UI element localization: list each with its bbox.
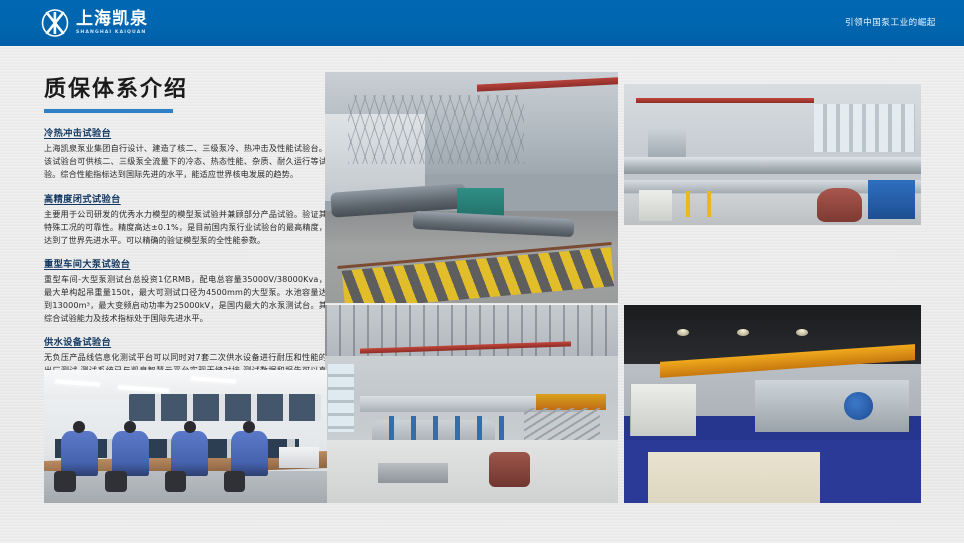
logo-wordmark: 上海凯泉 SHANGHAI KAIQUAN	[76, 11, 148, 36]
safety-bollard	[686, 191, 690, 216]
section-heading: 供水设备试验台	[44, 334, 327, 348]
section-body: 重型车间-大型泵测试台总投资1亿RMB，配电总容量35000V/38000Kva…	[44, 273, 327, 325]
overhead-crane	[636, 98, 814, 103]
water-supply-equipment-lab-photo	[624, 305, 921, 503]
operator-seated	[231, 431, 268, 476]
work-table	[378, 463, 448, 483]
split-case-pump	[817, 188, 862, 222]
test-control-room-photo	[44, 370, 327, 503]
blue-butterfly-valve	[844, 392, 874, 420]
blue-electric-motor	[868, 180, 916, 219]
content-column: 质保体系介绍 冷热冲击试验台 上海凯泉泵业集团自行设计、建造了核二、三级泵冷、热…	[44, 78, 327, 413]
section-heading: 冷热冲击试验台	[44, 125, 327, 139]
page-title: 质保体系介绍	[44, 78, 327, 102]
section-cold-hot-shock: 冷热冲击试验台 上海凯泉泵业集团自行设计、建造了核二、三级泵冷、热冲击及性能试验…	[44, 125, 327, 181]
control-cabinet	[639, 190, 672, 221]
logo-chinese-name: 上海凯泉	[76, 11, 148, 28]
roof-truss	[348, 95, 524, 164]
section-high-precision-closed-rig: 高精度闭式试验台 主要用于公司研发的优秀水力模型的模型泵试验并兼顾部分产品试验。…	[44, 191, 327, 247]
safety-bollard	[707, 191, 711, 216]
hall-windows	[814, 104, 915, 152]
hall-floor	[325, 440, 618, 503]
hall-windows	[328, 364, 354, 431]
split-case-pump	[489, 452, 530, 488]
operator-seated	[171, 431, 208, 476]
header-slogan: 引领中国泵工业的崛起	[845, 0, 936, 46]
operator-seated	[61, 431, 98, 476]
pump-assembly-hall-photo	[325, 305, 618, 503]
page-bottom-strip	[0, 543, 964, 548]
ceiling-lamp	[796, 329, 808, 336]
company-logo[interactable]: 上海凯泉 SHANGHAI KAIQUAN	[40, 7, 148, 39]
section-body: 上海凯泉泵业集团自行设计、建造了核二、三级泵冷、热冲击及性能试验台。该试验台可供…	[44, 142, 327, 181]
large-pump-test-hall-photo	[325, 72, 618, 303]
kaiquan-logo-icon	[40, 8, 70, 38]
ceiling-lamp	[737, 329, 749, 336]
section-body: 主要用于公司研发的优秀水力模型的模型泵试验并兼顾部分产品试验。验证其特殊工况的可…	[44, 208, 327, 247]
control-cabinet	[630, 384, 696, 435]
operator-seated	[112, 431, 149, 476]
closed-loop-test-rig-photo	[624, 84, 921, 225]
section-heading: 重型车间大泵试验台	[44, 256, 327, 270]
wall-monitor-array	[129, 394, 321, 421]
section-heavy-workshop-large-pump-rig: 重型车间大泵试验台 重型车间-大型泵测试台总投资1亿RMB，配电总容量35000…	[44, 256, 327, 325]
ceiling-lamp	[677, 329, 689, 336]
slide-page: 上海凯泉 SHANGHAI KAIQUAN 引领中国泵工业的崛起 质保体系介绍 …	[0, 0, 964, 548]
office-printer	[279, 447, 319, 468]
section-heading: 高精度闭式试验台	[44, 191, 327, 205]
title-underline-rule	[44, 109, 173, 113]
valve-handwheels	[389, 416, 506, 440]
booster-pump-skid	[755, 380, 909, 431]
page-header: 上海凯泉 SHANGHAI KAIQUAN 引领中国泵工业的崛起	[0, 0, 964, 46]
floor-inlay	[648, 452, 820, 503]
logo-english-name: SHANGHAI KAIQUAN	[76, 31, 148, 36]
insulated-pipe-run	[624, 157, 921, 174]
